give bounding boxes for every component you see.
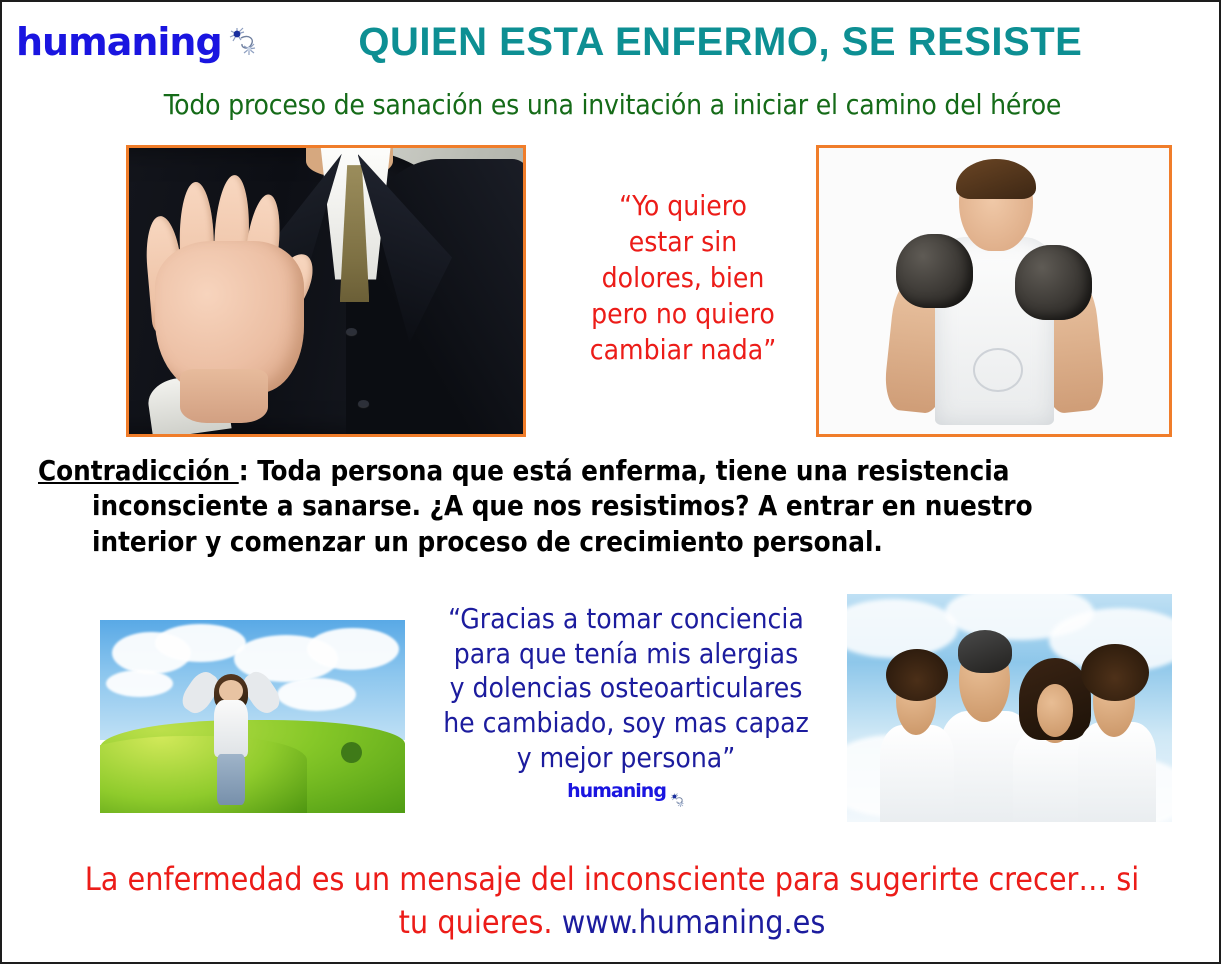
footer-message: La enfermedad es un mensaje del inconsci… (32, 858, 1192, 943)
face-shape (1037, 684, 1073, 737)
curly-hair-shape (886, 649, 948, 701)
boxing-glove-left (896, 234, 973, 308)
man-in-suit-raised-palm-photo (126, 145, 526, 437)
contradiction-line-2: inconsciente a sanarse. ¿A que nos resis… (38, 489, 1188, 524)
humaning-logo-small: humaning (416, 782, 836, 801)
young-boxer-photo (816, 145, 1172, 437)
woman-in-flower-field-photo (100, 620, 405, 813)
red-quote-line: estar sin (550, 224, 816, 260)
hair-shape (958, 630, 1013, 672)
blue-quote-line: y dolencias osteoarticulares (416, 671, 836, 706)
molecule-spark-icon (224, 25, 258, 59)
wrist-shape (180, 369, 269, 423)
woman-shape (201, 662, 262, 805)
red-quote-line: pero no quiero (550, 296, 816, 332)
red-quote-block: “Yo quiero estar sin dolores, bien pero … (550, 188, 816, 369)
boxing-glove-right (1015, 245, 1092, 319)
slide-title: QUIEN ESTA ENFERMO, SE RESISTE (258, 20, 1221, 65)
slide-header: humaning QUIEN ESTA ENFERMO, SE RESISTE (2, 10, 1221, 74)
jeans-shape (217, 754, 245, 805)
contradiction-line-1: Toda persona que está enferma, tiene una… (257, 455, 1009, 487)
contradiction-line-3: interior y comenzar un proceso de crecim… (38, 525, 1188, 560)
jacket-button (358, 400, 369, 407)
cloud-shape (277, 678, 356, 711)
raised-hand-shape (141, 162, 318, 408)
footer-line-2-prefix: tu quieres. (399, 903, 562, 941)
slide-subtitle: Todo proceso de sanación es una invitaci… (2, 88, 1221, 121)
blue-quote-line: y mejor persona” (416, 741, 836, 776)
cloud-shape (307, 628, 399, 670)
curly-hair-shape (1081, 644, 1149, 701)
red-quote-line: dolores, bien (550, 260, 816, 296)
contradiction-separator: : (239, 455, 258, 487)
tree-shape (341, 742, 362, 763)
blue-quote-block: “Gracias a tomar conciencia para que ten… (416, 602, 836, 801)
watermark-icon (973, 348, 1023, 392)
blue-quote-line: he cambiado, soy mas capaz (416, 706, 836, 741)
shirt-shape (880, 725, 955, 822)
slide-canvas: humaning QUIEN ESTA ENFERMO, SE RESISTE … (0, 0, 1221, 964)
red-quote-line: “Yo quiero (550, 188, 816, 224)
humaning-wordmark: humaning (567, 782, 666, 801)
blue-quote-line: para que tenía mis alergias (416, 637, 836, 672)
jacket-shape (214, 700, 248, 757)
contradiction-label: Contradicción (38, 455, 239, 487)
child-right-shape (1075, 644, 1160, 822)
shirt-shape (1078, 722, 1156, 822)
jacket-button (346, 328, 357, 335)
website-url[interactable]: www.humaning.es (562, 903, 826, 941)
red-quote-line: cambiar nada” (550, 332, 816, 368)
blue-quote-line: “Gracias a tomar conciencia (416, 602, 836, 637)
molecule-spark-icon (668, 783, 685, 800)
contradiction-paragraph: Contradicción : Toda persona que está en… (38, 454, 1188, 560)
child-left-shape (876, 649, 957, 822)
happy-family-photo (847, 594, 1172, 822)
humaning-wordmark: humaning (16, 23, 222, 61)
footer-line-1: La enfermedad es un mensaje del inconsci… (85, 860, 1140, 898)
humaning-logo: humaning (16, 14, 258, 70)
